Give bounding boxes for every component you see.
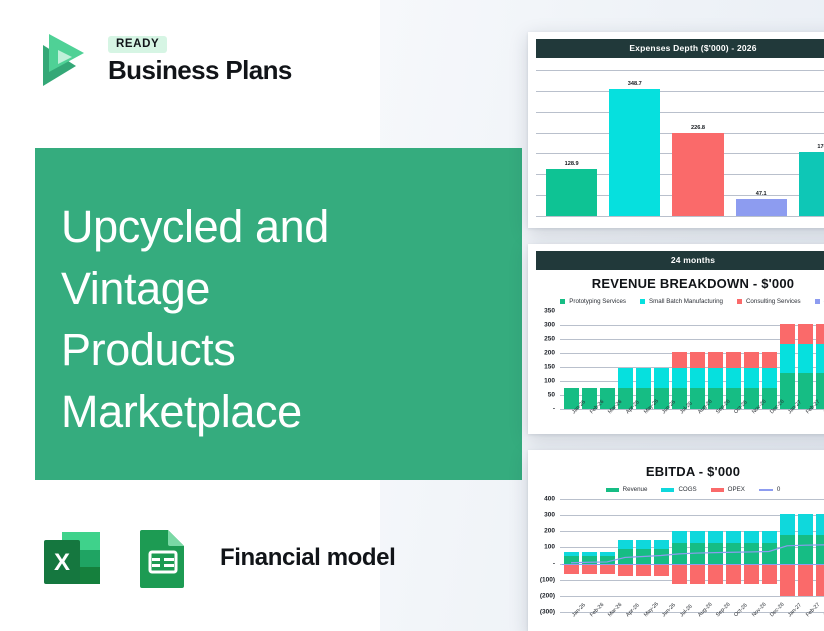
y-axis-tick: -	[553, 560, 555, 567]
bar[interactable]	[799, 152, 824, 216]
legend-swatch	[815, 299, 820, 304]
y-axis-tick: 400	[544, 496, 555, 503]
x-axis-label-slot: Jan-27	[778, 612, 796, 631]
bar-segment[interactable]	[636, 368, 651, 388]
x-axis-label-slot: Sep-26	[706, 612, 724, 631]
bar-column[interactable]: 348.7	[603, 70, 666, 216]
chart-ebitda-plot: 400300200100-(100)(200)(300) Jan-26Feb-2…	[532, 499, 824, 612]
chart-revenue-legend: Prototyping ServicesSmall Batch Manufact…	[528, 298, 824, 305]
bar-segment[interactable]	[726, 368, 741, 388]
bar-column[interactable]	[778, 311, 796, 409]
legend-item[interactable]: OPEX	[711, 486, 745, 493]
x-axis-label-slot: Mar-26	[598, 409, 616, 434]
bar-column[interactable]	[670, 311, 688, 409]
y-axis-tick: (100)	[540, 576, 555, 583]
x-axis-label-slot: May-26	[634, 612, 652, 631]
bar-column[interactable]	[580, 311, 598, 409]
bar-segment[interactable]	[708, 352, 723, 369]
chart-card-ebitda[interactable]: EBITDA - $'000 RevenueCOGSOPEX0 40030020…	[528, 450, 824, 631]
y-axis-ticks: 35030025020015010050-	[532, 311, 558, 409]
legend-label: Small Batch Manufacturing	[649, 298, 723, 305]
x-axis-label-slot: Apr-26	[616, 409, 634, 434]
x-axis-label-slot: Jul-26	[670, 612, 688, 631]
chart-card-revenue[interactable]: 24 months REVENUE BREAKDOWN - $'000 Prot…	[528, 244, 824, 434]
hero-panel: Upcycled and Vintage Products Marketplac…	[35, 148, 522, 480]
x-axis-label-slot: Dec-26	[760, 409, 778, 434]
gridline	[536, 216, 824, 217]
bar-data-label: 47.1	[756, 191, 767, 197]
y-axis-tick: (300)	[540, 609, 555, 616]
microsoft-excel-icon: X	[36, 522, 108, 594]
x-axis-label-slot: Mar-27	[814, 612, 824, 631]
x-axis-label-slot: Nov-26	[742, 612, 760, 631]
bar-data-label: 348.7	[628, 81, 642, 87]
bar-segment[interactable]	[780, 324, 795, 344]
legend-label: Prototyping Services	[569, 298, 626, 305]
x-axis-label-slot: Mar-26	[598, 612, 616, 631]
google-sheets-icon	[126, 522, 198, 594]
legend-swatch	[560, 299, 565, 304]
bar-column[interactable]	[634, 311, 652, 409]
y-axis-tick: 350	[544, 308, 555, 315]
y-axis-tick: -	[553, 406, 555, 413]
chart-revenue-plot: 35030025020015010050- Jan-26Feb-26Mar-26…	[532, 311, 824, 409]
x-axis-label-slot: Jan-26	[562, 409, 580, 434]
x-axis-label-slot: Mar-27	[814, 409, 824, 434]
y-axis-tick: 50	[548, 392, 555, 399]
legend-label: COGS	[678, 486, 696, 493]
legend-item[interactable]: 0	[759, 486, 780, 493]
bar-segment[interactable]	[744, 352, 759, 369]
x-axis-label-slot: Jan-26	[562, 612, 580, 631]
bar-segment[interactable]	[798, 324, 813, 344]
chart-card-expenses[interactable]: Expenses Depth ($'000) - 2026 128.9348.7…	[528, 32, 824, 228]
bar-segment[interactable]	[780, 344, 795, 373]
legend-swatch	[711, 488, 724, 492]
x-axis-labels: Jan-26Feb-26Mar-26Apr-26May-26Jun-26Jul-…	[562, 409, 824, 434]
bar-column[interactable]	[742, 311, 760, 409]
bar-segment[interactable]	[708, 368, 723, 388]
line-series-overlay	[562, 499, 824, 612]
y-axis-tick: 100	[544, 378, 555, 385]
bar-segment[interactable]	[744, 368, 759, 388]
bar[interactable]	[609, 89, 660, 216]
bar-column[interactable]	[706, 311, 724, 409]
legend-item[interactable]: Small Batch Manufacturing	[640, 298, 723, 305]
bar-column[interactable]	[616, 311, 634, 409]
x-axis-label-slot: Dec-26	[760, 612, 778, 631]
y-axis-tick: 100	[544, 544, 555, 551]
legend-swatch	[661, 488, 674, 492]
bar-column[interactable]	[760, 311, 778, 409]
play-triangle-logo-icon	[32, 28, 94, 90]
x-axis-label-slot: Feb-26	[580, 409, 598, 434]
bar-data-label: 226.8	[691, 125, 705, 131]
chart-revenue-band: 24 months	[536, 251, 824, 270]
bar-column[interactable]	[562, 311, 580, 409]
bar-data-label: 176.5	[817, 144, 824, 150]
x-axis-label-slot: Apr-26	[616, 612, 634, 631]
y-axis-tick: 250	[544, 336, 555, 343]
bar-segment[interactable]	[672, 368, 687, 388]
x-axis-label-slot: Jun-26	[652, 612, 670, 631]
chart-ebitda-title: EBITDA - $'000	[528, 464, 824, 479]
bar-segment[interactable]	[798, 344, 813, 373]
x-axis-label-slot: Oct-26	[724, 409, 742, 434]
chart-ebitda-legend: RevenueCOGSOPEX0	[528, 486, 824, 493]
legend-swatch	[759, 489, 773, 491]
brand-name: Business Plans	[108, 57, 292, 83]
bar-segment[interactable]	[762, 368, 777, 388]
y-axis-tick: 300	[544, 322, 555, 329]
chart-expenses-band: Expenses Depth ($'000) - 2026	[536, 39, 824, 58]
y-axis-tick: 150	[544, 364, 555, 371]
legend-label: OPEX	[728, 486, 745, 493]
bar-segment[interactable]	[690, 368, 705, 388]
x-axis-label-slot: Jul-26	[670, 409, 688, 434]
y-axis-tick: 200	[544, 528, 555, 535]
bar-series: 128.9348.7226.847.1176.5	[540, 70, 824, 216]
legend-swatch	[640, 299, 645, 304]
legend-item[interactable]: -	[815, 298, 824, 305]
ready-badge: READY	[108, 36, 167, 53]
x-axis-label-slot: Jun-26	[652, 409, 670, 434]
x-axis-label-slot: Oct-26	[724, 612, 742, 631]
bar[interactable]	[546, 169, 597, 216]
svg-text:X: X	[54, 549, 70, 576]
legend-item[interactable]: COGS	[661, 486, 696, 493]
bar-column[interactable]	[814, 311, 824, 409]
y-axis-ticks: 400300200100-(100)(200)(300)	[532, 499, 558, 612]
legend-swatch	[737, 299, 742, 304]
chart-expenses-plot: 128.9348.7226.847.1176.5	[536, 70, 824, 216]
bar-segment[interactable]	[816, 344, 824, 373]
bar-column[interactable]: 47.1	[730, 70, 793, 216]
bar[interactable]	[672, 133, 723, 216]
brand-text: READY Business Plans	[108, 36, 292, 83]
bar[interactable]	[736, 199, 787, 216]
bar-column[interactable]: 128.9	[540, 70, 603, 216]
bar-column[interactable]: 226.8	[666, 70, 729, 216]
bar-segment[interactable]	[654, 368, 669, 388]
bar-column[interactable]: 176.5	[793, 70, 824, 216]
y-axis-tick: 300	[544, 512, 555, 519]
x-axis-label-slot: Jan-27	[778, 409, 796, 434]
legend-swatch	[606, 488, 619, 492]
legend-item[interactable]: Revenue	[606, 486, 648, 493]
page-title: Upcycled and Vintage Products Marketplac…	[61, 196, 504, 443]
x-axis-labels: Jan-26Feb-26Mar-26Apr-26May-26Jun-26Jul-…	[562, 612, 824, 631]
slide-canvas: READY Business Plans Upcycled and Vintag…	[0, 0, 824, 631]
y-axis-tick: (200)	[540, 592, 555, 599]
legend-item[interactable]: Prototyping Services	[560, 298, 626, 305]
bar-column[interactable]	[724, 311, 742, 409]
bar-segment[interactable]	[690, 352, 705, 369]
y-axis-tick: 200	[544, 350, 555, 357]
bar-column[interactable]	[796, 311, 814, 409]
formats-row: X Financial model	[36, 522, 395, 594]
bar-column[interactable]	[688, 311, 706, 409]
x-axis-label-slot: May-26	[634, 409, 652, 434]
bar-segment[interactable]	[672, 352, 687, 369]
bar-series	[562, 311, 824, 409]
legend-item[interactable]: Consulting Services	[737, 298, 801, 305]
financial-model-label: Financial model	[220, 544, 395, 572]
legend-label: Revenue	[623, 486, 648, 493]
x-axis-label-slot: Feb-27	[796, 612, 814, 631]
bar-data-label: 128.9	[565, 161, 579, 167]
bar-column[interactable]	[652, 311, 670, 409]
x-axis-label-slot: Feb-27	[796, 409, 814, 434]
x-axis-label-slot: Feb-26	[580, 612, 598, 631]
bar-column[interactable]	[598, 311, 616, 409]
legend-label: 0	[777, 486, 780, 493]
legend-label: Consulting Services	[746, 298, 801, 305]
chart-revenue-title: REVENUE BREAKDOWN - $'000	[528, 276, 824, 291]
bar-segment[interactable]	[816, 324, 824, 344]
brand-lockup: READY Business Plans	[32, 28, 292, 90]
x-axis-label-slot: Sep-26	[706, 409, 724, 434]
x-axis-label-slot: Nov-26	[742, 409, 760, 434]
x-axis-label-slot: Aug-26	[688, 409, 706, 434]
x-axis-label-slot: Aug-26	[688, 612, 706, 631]
bar-segment[interactable]	[726, 352, 741, 369]
bar-segment[interactable]	[618, 368, 633, 388]
bar-segment[interactable]	[762, 352, 777, 369]
